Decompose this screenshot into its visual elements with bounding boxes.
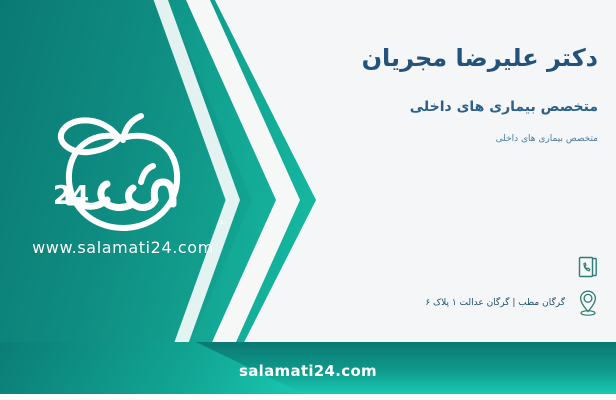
brand-logo: 24 به راحتی یک لبخند www.salamati24.com (18, 108, 228, 257)
contact-row-phone (565, 252, 602, 282)
phone-book-icon (574, 252, 602, 282)
apple-outline-icon: 24 به راحتی یک لبخند (23, 108, 223, 236)
doctor-name: دکتر علیرضا مجریان (362, 44, 598, 72)
business-card: 24 به راحتی یک لبخند www.salamati24.com … (0, 0, 616, 400)
doctor-specialty: متخصص بیماری های داخلی (410, 99, 598, 115)
logo-badge-24: 24 (53, 181, 89, 211)
doctor-specialty-secondary: متخصص بیماری های داخلی (496, 134, 598, 144)
contact-row-address: گرگان مطب | گرگان عدالت ۱ پلاک ۶ (425, 288, 602, 318)
bottom-edge (0, 394, 616, 400)
map-pin-icon (574, 288, 602, 318)
card-footer: salamati24.com (0, 342, 616, 400)
card-content: دکتر علیرضا مجریان متخصص بیماری های داخل… (316, 0, 616, 400)
logo-website: www.salamati24.com (18, 238, 228, 257)
footer-website: salamati24.com (0, 342, 616, 400)
logo-tagline: به راحتی یک لبخند (219, 217, 223, 227)
clinic-address: گرگان مطب | گرگان عدالت ۱ پلاک ۶ (425, 298, 565, 309)
